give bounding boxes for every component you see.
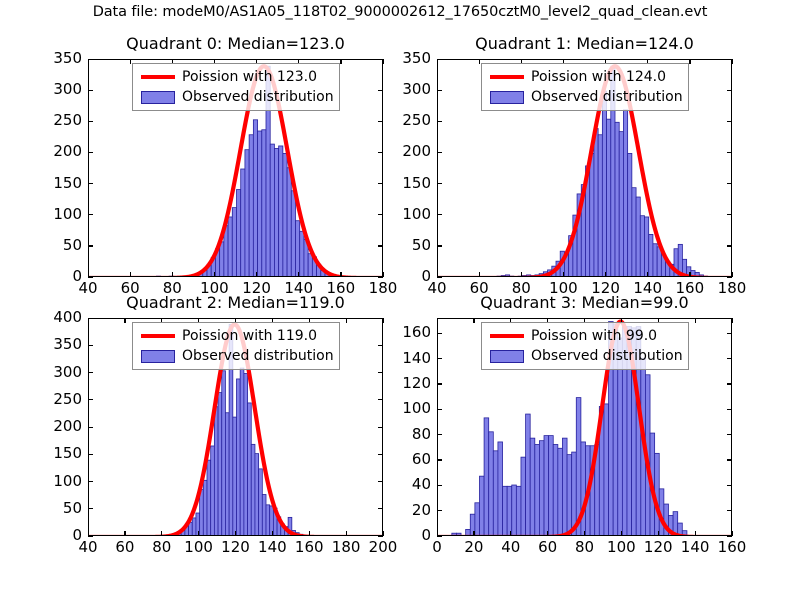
- histogram-bar: [526, 414, 531, 536]
- histogram-bar: [244, 374, 248, 537]
- x-tick-mark: [198, 531, 199, 536]
- x-tick-mark: [214, 272, 215, 277]
- x-tick-mark: [272, 531, 273, 536]
- x-tick-mark: [647, 272, 648, 277]
- y-tick-label: 200: [28, 142, 82, 160]
- y-tick-mark: [88, 508, 93, 509]
- x-tick-mark: [340, 59, 341, 64]
- x-tick-mark: [479, 59, 480, 64]
- histogram-bar: [225, 413, 229, 536]
- x-tick-mark: [437, 272, 438, 277]
- histogram-bar: [535, 444, 540, 536]
- y-tick-mark: [88, 245, 93, 246]
- panel-title-quadrant-2: Quadrant 2: Median=119.0: [88, 293, 383, 312]
- histogram-bar: [598, 135, 602, 277]
- x-tick-mark: [88, 272, 89, 277]
- y-tick-label: 150: [28, 444, 82, 462]
- panel-title-quadrant-1: Quadrant 1: Median=124.0: [437, 34, 732, 53]
- y-tick-label: 50: [28, 236, 82, 254]
- y-tick-mark: [727, 383, 732, 384]
- y-tick-mark: [88, 427, 93, 428]
- x-tick-mark: [732, 272, 733, 277]
- legend-label-observed: Observed distribution: [182, 348, 334, 364]
- panel-title-quadrant-3: Quadrant 3: Median=99.0: [437, 293, 732, 312]
- legend-entry-poisson: Poission with 124.0: [487, 67, 683, 87]
- y-tick-mark: [727, 245, 732, 246]
- y-tick-label: 140: [377, 349, 431, 367]
- x-tick-mark: [695, 318, 696, 323]
- figure-suptitle: Data file: modeM0/AS1A05_118T02_90000026…: [0, 4, 800, 20]
- x-tick-mark: [124, 531, 125, 536]
- y-tick-label: 60: [377, 450, 431, 468]
- y-tick-label: 150: [28, 174, 82, 192]
- y-tick-mark: [437, 409, 442, 410]
- legend-quadrant-1[interactable]: Poission with 124.0Observed distribution: [481, 63, 689, 111]
- histogram-bar: [581, 442, 586, 536]
- x-tick-mark: [473, 318, 474, 323]
- y-tick-mark: [437, 434, 442, 435]
- histogram-bar: [498, 442, 503, 536]
- y-tick-label: 300: [28, 80, 82, 98]
- y-tick-mark: [437, 90, 442, 91]
- y-tick-label: 20: [377, 501, 431, 519]
- histogram-bar: [489, 432, 494, 536]
- x-tick-mark: [695, 531, 696, 536]
- x-tick-mark: [473, 531, 474, 536]
- legend-label-poisson: Poission with 123.0: [182, 69, 317, 85]
- y-tick-mark: [88, 536, 93, 537]
- y-tick-label: 350: [28, 49, 82, 67]
- y-tick-label: 100: [377, 399, 431, 417]
- x-tick-mark: [479, 272, 480, 277]
- histogram-bar: [567, 455, 572, 536]
- x-tick-mark: [256, 272, 257, 277]
- y-tick-label: 200: [377, 142, 431, 160]
- y-tick-mark: [727, 358, 732, 359]
- y-tick-mark: [437, 510, 442, 511]
- x-tick-mark: [658, 531, 659, 536]
- histogram-bar: [270, 144, 274, 277]
- x-tick-mark: [346, 318, 347, 323]
- y-tick-mark: [88, 277, 93, 278]
- histogram-bar: [602, 91, 606, 277]
- histogram-bar: [237, 190, 241, 277]
- y-tick-mark: [727, 459, 732, 460]
- y-tick-mark: [88, 183, 93, 184]
- histogram-bar: [516, 486, 521, 536]
- x-tick-mark: [689, 272, 690, 277]
- legend-entry-poisson: Poission with 99.0: [487, 326, 683, 346]
- x-tick-mark: [130, 272, 131, 277]
- histogram-bar: [237, 379, 241, 536]
- histogram-bar: [255, 454, 259, 536]
- y-tick-mark: [437, 333, 442, 334]
- histogram-bar: [590, 153, 594, 277]
- x-tick-mark: [732, 318, 733, 323]
- x-tick-mark: [172, 272, 173, 277]
- histogram-bar: [645, 217, 649, 277]
- y-tick-mark: [88, 152, 93, 153]
- histogram-bar: [649, 234, 653, 277]
- x-tick-mark: [161, 531, 162, 536]
- y-tick-mark: [727, 510, 732, 511]
- histogram-bar: [553, 444, 558, 536]
- y-tick-mark: [437, 245, 442, 246]
- y-tick-mark: [437, 358, 442, 359]
- y-tick-label: 80: [377, 425, 431, 443]
- y-tick-mark: [437, 214, 442, 215]
- histogram-bar: [456, 533, 461, 536]
- y-tick-mark: [88, 372, 93, 373]
- histogram-bar: [241, 169, 245, 277]
- histogram-bar: [510, 276, 514, 277]
- x-tick-mark: [563, 272, 564, 277]
- histogram-bar: [303, 535, 307, 536]
- y-tick-label: 50: [28, 499, 82, 517]
- histogram-bar: [240, 368, 244, 536]
- y-tick-label: 250: [28, 111, 82, 129]
- y-tick-mark: [437, 459, 442, 460]
- histogram-bar: [274, 148, 278, 277]
- y-tick-mark: [727, 214, 732, 215]
- y-tick-mark: [437, 59, 442, 60]
- y-tick-mark: [727, 333, 732, 334]
- histogram-bar: [695, 272, 699, 277]
- histogram-bar: [296, 221, 300, 277]
- histogram-bar: [539, 441, 544, 536]
- x-tick-mark: [605, 272, 606, 277]
- y-tick-mark: [727, 409, 732, 410]
- histogram-bar: [530, 438, 535, 536]
- x-tick-mark: [689, 59, 690, 64]
- histogram-bar: [156, 276, 160, 277]
- y-tick-mark: [88, 318, 93, 319]
- x-tick-mark: [130, 59, 131, 64]
- histogram-bar: [266, 505, 270, 536]
- histogram-bar: [211, 446, 215, 536]
- y-tick-mark: [437, 383, 442, 384]
- y-tick-mark: [437, 277, 442, 278]
- x-tick-mark: [88, 59, 89, 64]
- histogram-bar: [220, 242, 224, 277]
- histogram-bar: [279, 146, 283, 277]
- y-tick-label: 350: [377, 49, 431, 67]
- x-tick-mark: [510, 531, 511, 536]
- legend-label-observed: Observed distribution: [531, 348, 683, 364]
- histogram-bar: [253, 120, 257, 277]
- x-tick-mark: [732, 531, 733, 536]
- histogram-bar: [192, 518, 196, 536]
- y-tick-mark: [88, 481, 93, 482]
- histogram-bar: [507, 486, 512, 536]
- y-tick-mark: [727, 183, 732, 184]
- histogram-bar: [232, 208, 236, 277]
- histogram-bar: [558, 448, 563, 536]
- histogram-bar: [300, 231, 304, 277]
- y-tick-mark: [378, 345, 383, 346]
- y-tick-mark: [437, 536, 442, 537]
- x-tick-mark: [732, 59, 733, 64]
- x-tick-mark: [88, 531, 89, 536]
- y-tick-mark: [88, 454, 93, 455]
- x-tick-label: 160: [702, 538, 762, 556]
- y-tick-mark: [88, 399, 93, 400]
- y-tick-label: 160: [377, 323, 431, 341]
- legend-label-observed: Observed distribution: [531, 89, 683, 105]
- y-tick-label: 120: [377, 374, 431, 392]
- histogram-bar: [653, 244, 657, 277]
- x-tick-mark: [340, 272, 341, 277]
- y-tick-label: 50: [377, 236, 431, 254]
- x-tick-mark: [621, 531, 622, 536]
- histogram-bar: [245, 150, 249, 277]
- histogram-bar: [222, 371, 226, 536]
- x-tick-mark: [88, 318, 89, 323]
- y-tick-label: 150: [377, 174, 431, 192]
- y-tick-label: 100: [28, 205, 82, 223]
- histogram-bar: [218, 393, 222, 536]
- histogram-bar: [562, 438, 567, 536]
- legend-entry-observed: Observed distribution: [138, 346, 334, 366]
- y-tick-label: 400: [28, 308, 82, 326]
- y-tick-mark: [727, 485, 732, 486]
- histogram-bar: [214, 407, 218, 536]
- histogram-bar: [632, 188, 636, 277]
- histogram-bar: [521, 457, 526, 536]
- histogram-bar: [607, 119, 611, 277]
- y-tick-mark: [437, 485, 442, 486]
- y-tick-mark: [88, 121, 93, 122]
- histogram-bar: [628, 153, 632, 277]
- x-tick-mark: [437, 59, 438, 64]
- histogram-bar: [308, 254, 312, 277]
- histogram-bar: [186, 276, 190, 277]
- legend-entry-poisson: Poission with 123.0: [138, 67, 334, 87]
- histogram-bar: [283, 153, 287, 277]
- bar-swatch-icon: [141, 350, 175, 363]
- legend-label-poisson: Poission with 119.0: [182, 328, 317, 344]
- histogram-bar: [258, 131, 262, 277]
- x-tick-mark: [124, 318, 125, 323]
- legend-entry-observed: Observed distribution: [487, 346, 683, 366]
- y-tick-mark: [727, 121, 732, 122]
- bar-swatch-icon: [141, 91, 175, 104]
- bar-swatch-icon: [490, 350, 524, 363]
- x-tick-mark: [521, 272, 522, 277]
- histogram-bar: [207, 460, 211, 536]
- legend-entry-poisson: Poission with 119.0: [138, 326, 334, 346]
- legend-quadrant-0[interactable]: Poission with 123.0Observed distribution: [132, 63, 340, 111]
- y-tick-mark: [88, 90, 93, 91]
- x-tick-mark: [309, 531, 310, 536]
- histogram-bar: [452, 533, 457, 536]
- x-tick-mark: [584, 531, 585, 536]
- histogram-bar: [287, 168, 291, 277]
- histogram-bar: [544, 436, 549, 536]
- histogram-bar: [228, 217, 232, 277]
- line-swatch-icon: [490, 334, 524, 338]
- x-tick-mark: [547, 531, 548, 536]
- histogram-bar: [262, 494, 266, 536]
- y-tick-mark: [88, 345, 93, 346]
- histogram-bar: [704, 276, 708, 277]
- histogram-bar: [484, 418, 489, 536]
- histogram-bar: [615, 122, 619, 277]
- y-tick-mark: [88, 59, 93, 60]
- histogram-bar: [479, 476, 484, 536]
- y-tick-label: 250: [377, 111, 431, 129]
- histogram-bar: [466, 529, 471, 536]
- histogram-bar: [501, 276, 505, 277]
- x-tick-mark: [437, 318, 438, 323]
- histogram-bar: [522, 276, 526, 277]
- histogram-bar: [503, 486, 508, 536]
- y-tick-mark: [727, 434, 732, 435]
- histogram-bar: [691, 271, 695, 277]
- y-tick-mark: [727, 152, 732, 153]
- legend-quadrant-3[interactable]: Poission with 99.0Observed distribution: [481, 322, 689, 370]
- panel-title-quadrant-0: Quadrant 0: Median=123.0: [88, 34, 383, 53]
- line-swatch-icon: [141, 75, 175, 79]
- histogram-bar: [475, 503, 480, 536]
- histogram-bar: [636, 197, 640, 277]
- histogram-bar: [248, 403, 252, 536]
- legend-label-observed: Observed distribution: [182, 89, 334, 105]
- legend-entry-observed: Observed distribution: [487, 87, 683, 107]
- histogram-bar: [594, 129, 598, 277]
- histogram-bar: [493, 451, 498, 536]
- legend-label-poisson: Poission with 99.0: [531, 328, 657, 344]
- x-tick-mark: [235, 531, 236, 536]
- y-tick-label: 300: [377, 80, 431, 98]
- histogram-bar: [333, 276, 337, 277]
- histogram-bar: [233, 417, 237, 536]
- histogram-bar: [291, 191, 295, 277]
- matplotlib-figure: Data file: modeM0/AS1A05_118T02_90000026…: [0, 0, 800, 600]
- y-tick-label: 300: [28, 363, 82, 381]
- y-tick-label: 250: [28, 390, 82, 408]
- histogram-bar: [251, 444, 255, 536]
- legend-label-poisson: Poission with 124.0: [531, 69, 666, 85]
- y-tick-label: 350: [28, 335, 82, 353]
- histogram-bar: [549, 436, 554, 536]
- histogram-bar: [512, 485, 517, 536]
- x-tick-mark: [298, 272, 299, 277]
- y-tick-mark: [88, 214, 93, 215]
- legend-quadrant-2[interactable]: Poission with 119.0Observed distribution: [132, 322, 340, 370]
- y-tick-label: 200: [28, 417, 82, 435]
- histogram-bar: [682, 531, 687, 536]
- histogram-bar: [497, 276, 501, 277]
- y-tick-mark: [437, 152, 442, 153]
- histogram-bar: [619, 132, 623, 277]
- line-swatch-icon: [490, 75, 524, 79]
- y-tick-mark: [727, 90, 732, 91]
- line-swatch-icon: [141, 334, 175, 338]
- histogram-bar: [604, 404, 609, 536]
- bar-swatch-icon: [490, 91, 524, 104]
- histogram-bar: [262, 130, 266, 277]
- histogram-bar: [249, 135, 253, 277]
- y-tick-label: 100: [377, 205, 431, 223]
- y-tick-mark: [437, 121, 442, 122]
- x-tick-mark: [346, 531, 347, 536]
- histogram-bar: [166, 535, 170, 536]
- histogram-bar: [203, 480, 207, 536]
- y-tick-label: 40: [377, 475, 431, 493]
- histogram-bar: [259, 469, 263, 536]
- x-tick-mark: [437, 531, 438, 536]
- histogram-bar: [640, 216, 644, 277]
- histogram-bar: [623, 110, 627, 277]
- y-tick-label: 100: [28, 472, 82, 490]
- legend-entry-observed: Observed distribution: [138, 87, 334, 107]
- y-tick-mark: [437, 183, 442, 184]
